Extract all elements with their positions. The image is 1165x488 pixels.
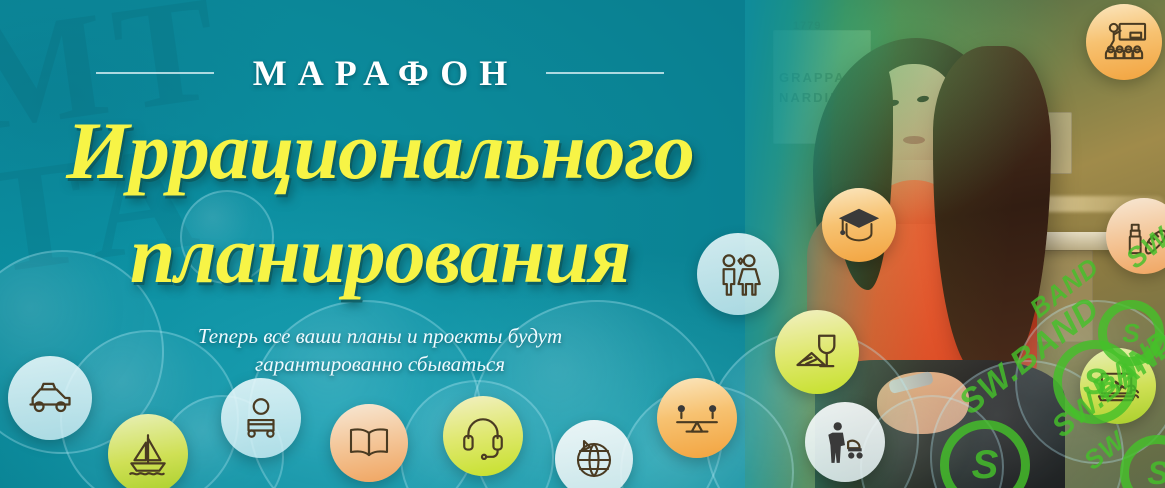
marathon-promo-banner: МТ ТА 1779 GRAPPA NARDINI [0,0,1165,488]
kicker-label: МАРАФОН [242,52,518,94]
graduation-cap-icon-glyph [836,202,882,248]
kicker-rule-left [96,72,214,74]
kicker-row: МАРАФОН [0,52,760,94]
person-cart-icon[interactable] [221,378,301,458]
car-icon[interactable] [8,356,92,440]
car-icon-glyph [24,372,76,424]
kicker-rule-right [546,72,664,74]
subtitle-line-1: Теперь все ваши планы и проекты будут [198,324,562,348]
graduation-cap-icon[interactable] [822,188,896,262]
book-icon[interactable] [330,404,408,482]
presenter-icon-glyph [1101,19,1148,66]
title-line-2: планирования [0,208,760,302]
sailboat-icon-glyph [123,429,173,479]
title-line-1: Иррационального [0,104,760,198]
subtitle-line-2: гарантированно сбываться [255,352,505,376]
mother-stroller-icon-glyph [820,417,870,467]
laptop-icon-glyph [1095,363,1142,410]
couple-icon-glyph [713,249,764,300]
book-icon-glyph [345,419,393,467]
seesaw-icon-glyph [672,393,722,443]
mother-stroller-icon[interactable] [805,402,885,482]
seesaw-icon[interactable] [657,378,737,458]
globe-icon[interactable] [555,420,633,488]
presenter-icon[interactable] [1086,4,1162,80]
headset-icon-glyph [458,411,508,461]
lipstick-icon-glyph [1121,213,1165,260]
couple-icon[interactable] [697,233,779,315]
wine-food-icon[interactable] [775,310,859,394]
laptop-icon[interactable] [1080,348,1156,424]
person-cart-icon-glyph [236,393,286,443]
subtitle: Теперь все ваши планы и проекты будут га… [60,322,700,379]
globe-icon-glyph [570,435,618,483]
wine-food-icon-glyph [791,326,843,378]
headset-icon[interactable] [443,396,523,476]
sailboat-icon[interactable] [108,414,188,488]
